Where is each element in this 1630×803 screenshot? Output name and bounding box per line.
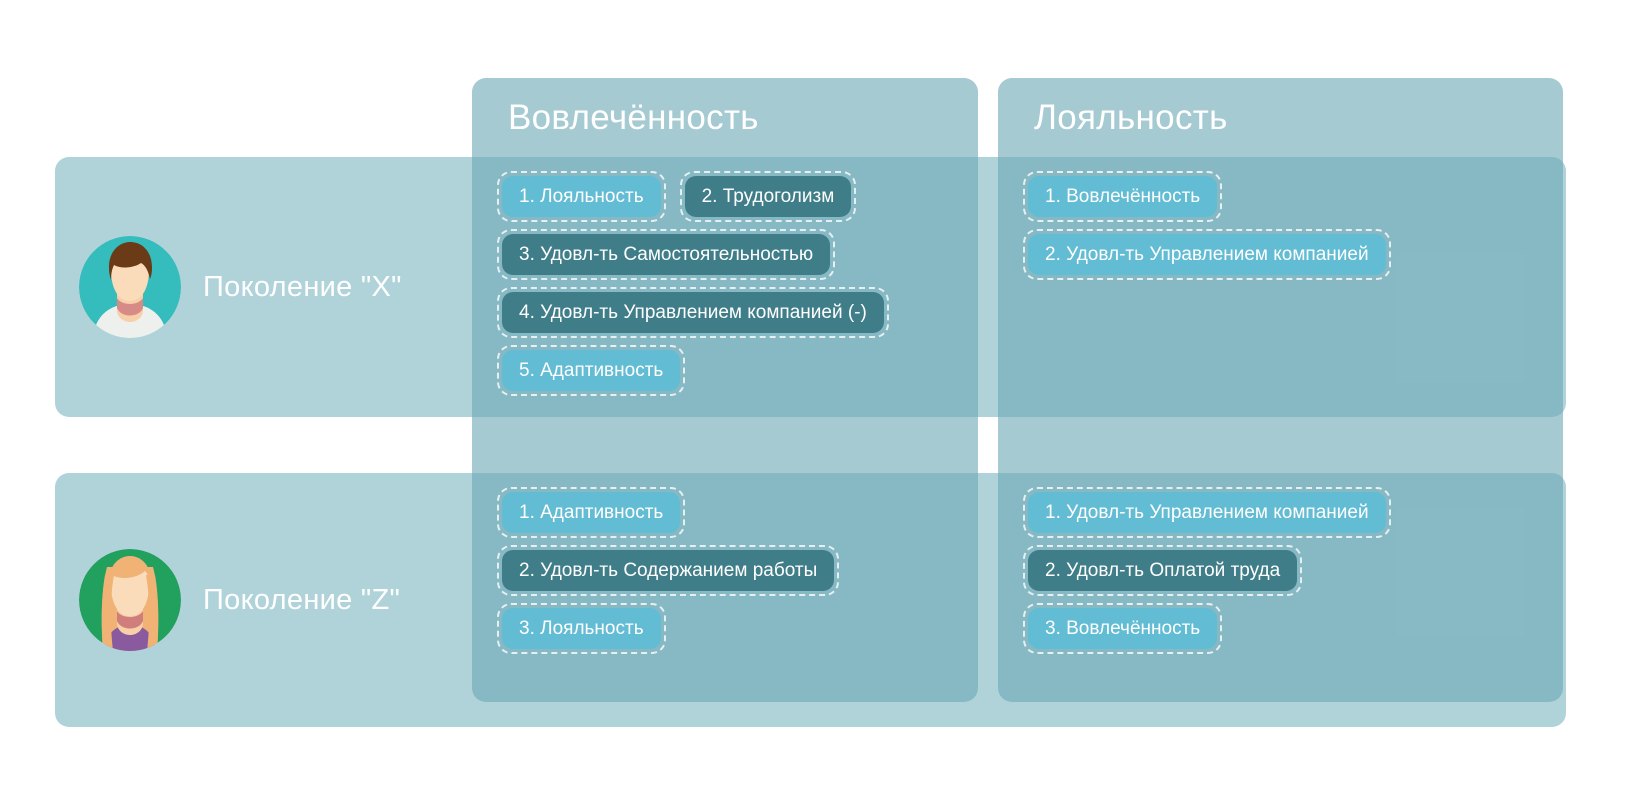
chip-line: 1. Вовлечённость <box>1028 176 1549 217</box>
column-panel-loyalty: Лояльность 1. Вовлечённость 2. Удовл-ть … <box>998 78 1563 702</box>
chip-group-engagement-gen-x: 1. Лояльность 2. Трудоголизм 3. Удовл-ть… <box>502 176 964 408</box>
chip-item[interactable]: 2. Трудоголизм <box>685 176 852 217</box>
chip-item[interactable]: 5. Адаптивность <box>502 350 680 391</box>
chip-line: 3. Вовлечённость <box>1028 608 1549 649</box>
chip-line: 4. Удовл-ть Управлением компанией (-) <box>502 292 964 333</box>
chip-item[interactable]: 3. Лояльность <box>502 608 661 649</box>
avatar-male-brown-hair-icon <box>79 236 181 338</box>
column-title-loyalty: Лояльность <box>1034 98 1228 138</box>
chip-item[interactable]: 4. Удовл-ть Управлением компанией (-) <box>502 292 884 333</box>
chip-group-loyalty-gen-x: 1. Вовлечённость 2. Удовл-ть Управлением… <box>1028 176 1549 292</box>
chip-line: 1. Удовл-ть Управлением компанией <box>1028 492 1549 533</box>
chip-line: 3. Удовл-ть Самостоятельностью <box>502 234 964 275</box>
column-title-engagement: Вовлечённость <box>508 98 759 138</box>
chip-line: 3. Лояльность <box>502 608 964 649</box>
chip-line: 1. Лояльность 2. Трудоголизм <box>502 176 964 217</box>
row-label-gen-x: Поколение "X" <box>203 271 402 304</box>
row-header-gen-z: Поколение "Z" <box>55 473 472 727</box>
chip-line: 2. Удовл-ть Оплатой труда <box>1028 550 1549 591</box>
chip-item[interactable]: 3. Удовл-ть Самостоятельностью <box>502 234 830 275</box>
chip-item[interactable]: 1. Вовлечённость <box>1028 176 1217 217</box>
chip-item[interactable]: 2. Удовл-ть Содержанием работы <box>502 550 834 591</box>
avatar-female-blonde-hair-icon <box>79 549 181 651</box>
chip-item[interactable]: 3. Вовлечённость <box>1028 608 1217 649</box>
chip-item[interactable]: 2. Удовл-ть Управлением компанией <box>1028 234 1386 275</box>
chip-item[interactable]: 1. Лояльность <box>502 176 661 217</box>
column-panel-engagement: Вовлечённость 1. Лояльность 2. Трудоголи… <box>472 78 978 702</box>
chip-line: 1. Адаптивность <box>502 492 964 533</box>
chip-item[interactable]: 2. Удовл-ть Оплатой труда <box>1028 550 1297 591</box>
chip-group-loyalty-gen-z: 1. Удовл-ть Управлением компанией 2. Удо… <box>1028 492 1549 666</box>
row-label-gen-z: Поколение "Z" <box>203 584 400 617</box>
row-header-gen-x: Поколение "X" <box>55 157 472 417</box>
chip-line: 2. Удовл-ть Содержанием работы <box>502 550 964 591</box>
chip-item[interactable]: 1. Удовл-ть Управлением компанией <box>1028 492 1386 533</box>
chip-line: 5. Адаптивность <box>502 350 964 391</box>
chip-group-engagement-gen-z: 1. Адаптивность 2. Удовл-ть Содержанием … <box>502 492 964 666</box>
infographic-canvas: Поколение "X" Поколение "Z" <box>0 0 1630 803</box>
chip-line: 2. Удовл-ть Управлением компанией <box>1028 234 1549 275</box>
chip-item[interactable]: 1. Адаптивность <box>502 492 680 533</box>
